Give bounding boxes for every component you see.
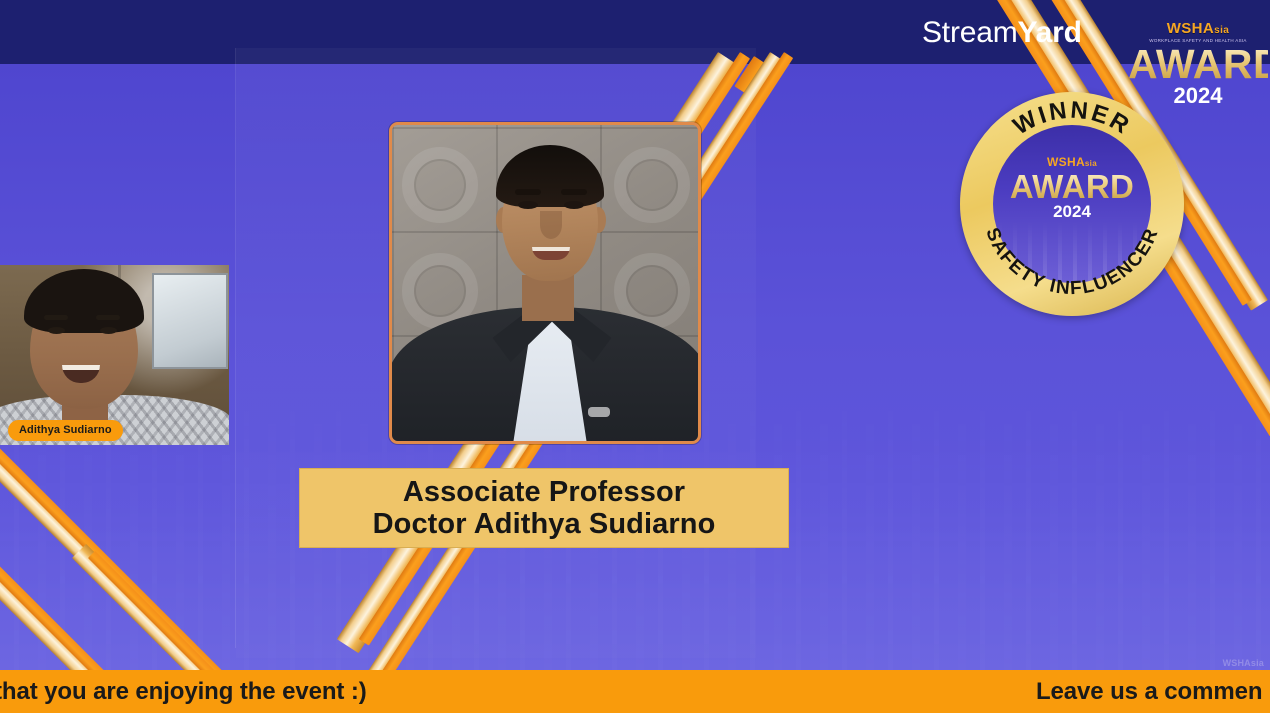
webcam-name-label: Adithya Sudiarno (8, 420, 123, 441)
center-panel-seam (235, 48, 236, 648)
portrait-brow-right (561, 189, 587, 195)
webcam-whiteboard (152, 273, 228, 369)
portrait-nose (540, 211, 562, 239)
webcam-hair (24, 269, 144, 333)
corner-logo-org-main: WSHA (1167, 20, 1214, 37)
speaker-title: Associate Professor (403, 476, 685, 508)
corner-logo-award-word: AWARD (1128, 44, 1268, 84)
speaker-portrait-frame (389, 122, 701, 444)
webcam-thumbnail[interactable]: Adithya Sudiarno (0, 265, 229, 445)
speaker-nameplate: Associate Professor Doctor Adithya Sudia… (299, 468, 789, 548)
portrait-backdrop-ring (614, 147, 690, 223)
ticker-message-right: Leave us a commen (1036, 678, 1262, 706)
portrait-neck (522, 275, 574, 321)
portrait-eye-right (564, 201, 584, 209)
comment-ticker-bar: that you are enjoying the event :) Leave… (0, 670, 1270, 713)
corner-logo-org-suffix: sia (1214, 25, 1229, 36)
speaker-full-name: Doctor Adithya Sudiarno (373, 508, 716, 540)
streamyard-logo: StreamYard (922, 16, 1082, 50)
webcam-video-feed (0, 265, 229, 445)
webcam-brow-left (44, 315, 68, 320)
streamyard-logo-light: Stream (922, 16, 1018, 49)
stream-stage: StreamYard WSHAsia WORKPLACE SAFETY AND … (0, 0, 1270, 713)
portrait-pocket-square (588, 407, 610, 417)
portrait-backdrop-ring (402, 147, 478, 223)
webcam-brow-right (96, 315, 120, 320)
webcam-eye-right (100, 327, 117, 334)
badge-top-arc-label: WINNER (1009, 97, 1136, 141)
portrait-brow-left (515, 189, 541, 195)
portrait-eye-left (518, 201, 538, 209)
badge-bottom-arc-label: SAFETY INFLUENCER (981, 225, 1163, 299)
streamyard-logo-bold: Yard (1018, 16, 1082, 49)
wsha-award-corner-logo: WSHAsia WORKPLACE SAFETY AND HEALTH ASIA… (1128, 20, 1268, 130)
corner-logo-org: WSHAsia (1128, 20, 1268, 37)
ticker-message-left: that you are enjoying the event :) (0, 678, 367, 706)
corner-logo-year: 2024 (1128, 85, 1268, 107)
webcam-eye-left (48, 327, 65, 334)
